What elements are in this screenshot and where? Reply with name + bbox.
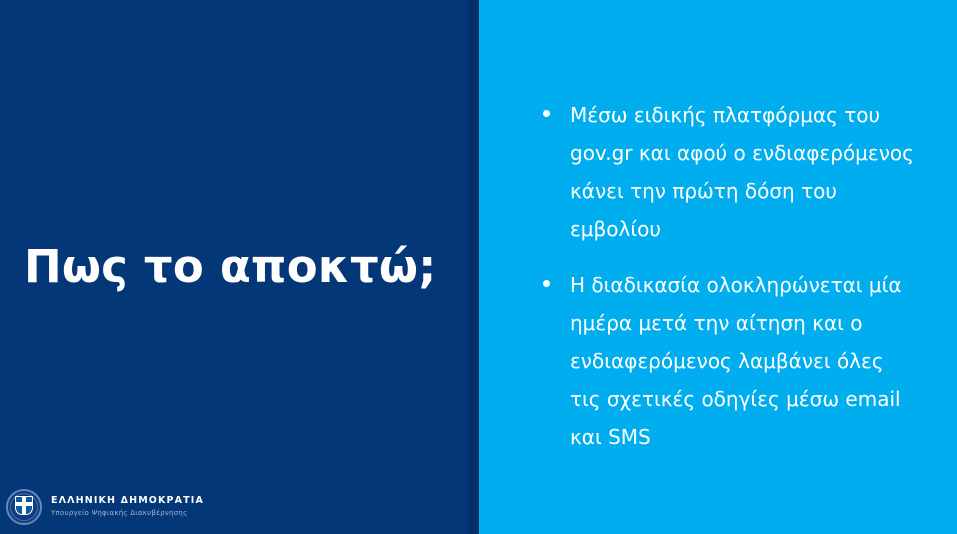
list-item-text: Η διαδικασία ολοκληρώνεται μία ημέρα μετ…	[570, 266, 915, 456]
panel-edge-stripe	[468, 0, 479, 534]
logo-title: ΕΛΛΗΝΙΚΗ ΔΗΜΟΚΡΑΤΙΑ	[51, 495, 204, 507]
logo-subtitle: Υπουργείο Ψηφιακής Διακυβέρνησης	[51, 508, 204, 519]
bullet-list: Μέσω ειδικής πλατφόρμας του gov.gr και α…	[543, 96, 943, 474]
content-panel: Μέσω ειδικής πλατφόρμας του gov.gr και α…	[479, 0, 957, 534]
cross-horizontal-bar	[16, 502, 32, 506]
bullet-dot-icon	[543, 110, 550, 117]
logo-text-block: ΕΛΛΗΝΙΚΗ ΔΗΜΟΚΡΑΤΙΑ Υπουργείο Ψηφιακής Δ…	[51, 495, 204, 519]
list-item-text: Μέσω ειδικής πλατφόρμας του gov.gr και α…	[570, 96, 915, 248]
bullet-dot-icon	[543, 280, 550, 287]
list-item: Μέσω ειδικής πλατφόρμας του gov.gr και α…	[543, 96, 943, 248]
page-title: Πως το αποκτώ;	[24, 241, 464, 293]
coat-of-arms-icon	[6, 489, 42, 525]
list-item: Η διαδικασία ολοκληρώνεται μία ημέρα μετ…	[543, 266, 943, 456]
hellenic-republic-logo: ΕΛΛΗΝΙΚΗ ΔΗΜΟΚΡΑΤΙΑ Υπουργείο Ψηφιακής Δ…	[6, 485, 204, 529]
title-panel: Πως το αποκτώ; ΕΛΛΗΝΙΚΗ ΔΗΜΟΚΡΑΤΙΑ Υπουρ…	[0, 0, 479, 534]
presentation-slide: Πως το αποκτώ; ΕΛΛΗΝΙΚΗ ΔΗΜΟΚΡΑΤΙΑ Υπουρ…	[0, 0, 957, 534]
